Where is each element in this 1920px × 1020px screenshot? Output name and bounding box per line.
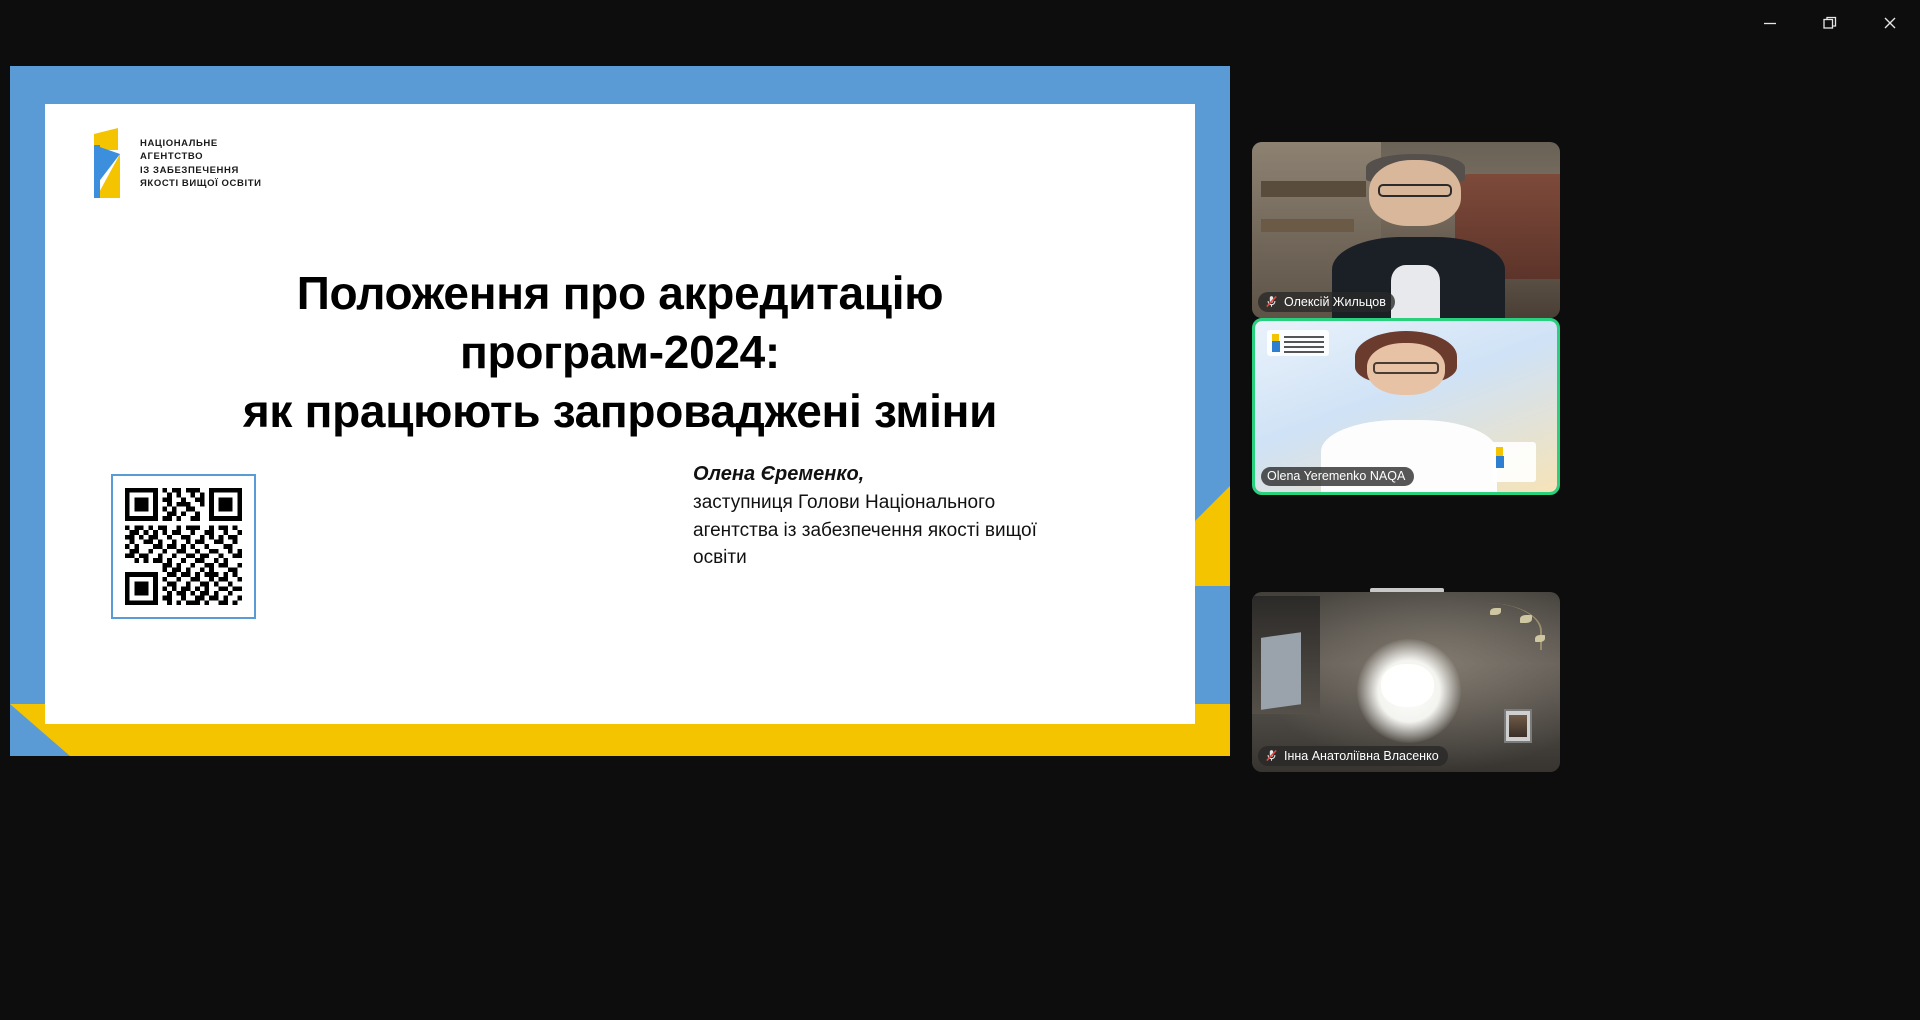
qr-code-image	[125, 488, 242, 605]
slide-title-line-2: програм-2024:	[145, 323, 1095, 382]
wall-picture-icon	[1504, 709, 1532, 743]
speaker-role-line-3: освіти	[693, 544, 1093, 572]
presentation-slide: НАЦІОНАЛЬНЕ АГЕНТСТВО ІЗ ЗАБЕЗПЕЧЕННЯ ЯК…	[45, 104, 1195, 724]
logo-line-2: АГЕНТСТВО	[140, 151, 262, 162]
video-feed-participant-3	[1252, 592, 1560, 772]
speaker-credit: Олена Єременко, заступниця Голови Націон…	[693, 459, 1093, 572]
restore-button[interactable]	[1800, 0, 1860, 46]
slide-title: Положення про акредитацію програм-2024: …	[145, 264, 1095, 441]
video-tile-participant-3[interactable]: Інна Анатоліївна Власенко	[1252, 592, 1560, 772]
logo-line-3: ІЗ ЗАБЕЗПЕЧЕННЯ	[140, 165, 262, 176]
video-tile-participant-1[interactable]: Олексій Жильцов	[1252, 142, 1560, 318]
participant-name-badge: Олексій Жильцов	[1258, 292, 1395, 312]
close-button[interactable]	[1860, 0, 1920, 46]
minimize-icon	[1761, 14, 1779, 32]
participant-name-label: Olena Yeremenko NAQA	[1267, 469, 1405, 483]
video-participant-rail: Олексій Жильцов Olena Yeremenko NAQA	[1252, 0, 1920, 1020]
slide-title-line-1: Положення про акредитацію	[145, 264, 1095, 323]
microphone-muted-icon	[1264, 294, 1279, 309]
zoom-meeting-window: НАЦІОНАЛЬНЕ АГЕНТСТВО ІЗ ЗАБЕЗПЕЧЕННЯ ЯК…	[0, 0, 1920, 1020]
speaker-role-line-2: агентства із забезпечення якості вищої	[693, 517, 1093, 545]
participant-name-label: Інна Анатоліївна Власенко	[1284, 749, 1439, 763]
participant-name-badge: Olena Yeremenko NAQA	[1261, 467, 1414, 486]
minimize-button[interactable]	[1740, 0, 1800, 46]
window-controls	[1740, 0, 1920, 46]
naqa-logo-text: НАЦІОНАЛЬНЕ АГЕНТСТВО ІЗ ЗАБЕЗПЕЧЕННЯ ЯК…	[140, 138, 262, 189]
slide-title-line-3: як працюють запроваджені зміни	[145, 382, 1095, 441]
participant-name-label: Олексій Жильцов	[1284, 295, 1386, 309]
microphone-muted-icon	[1264, 748, 1279, 763]
naqa-logo: НАЦІОНАЛЬНЕ АГЕНТСТВО ІЗ ЗАБЕЗПЕЧЕННЯ ЯК…	[80, 126, 262, 201]
shared-screen-stage[interactable]: НАЦІОНАЛЬНЕ АГЕНТСТВО ІЗ ЗАБЕЗПЕЧЕННЯ ЯК…	[10, 66, 1230, 756]
speaker-role-line-1: заступниця Голови Національного	[693, 489, 1093, 517]
participant-name-badge: Інна Анатоліївна Власенко	[1258, 746, 1448, 766]
naqa-badge-icon	[1492, 442, 1536, 482]
naqa-emblem-icon	[80, 126, 128, 201]
qr-code[interactable]	[111, 474, 256, 619]
naqa-logo-mark-icon	[80, 126, 128, 201]
naqa-logo-overlay-icon	[1267, 330, 1329, 356]
close-icon	[1881, 14, 1899, 32]
video-tile-participant-2[interactable]: Olena Yeremenko NAQA	[1252, 318, 1560, 495]
logo-line-1: НАЦІОНАЛЬНЕ	[140, 138, 262, 149]
speaker-name: Олена Єременко,	[693, 459, 1093, 489]
restore-icon	[1821, 14, 1839, 32]
logo-line-4: ЯКОСТІ ВИЩОЇ ОСВІТИ	[140, 178, 262, 189]
